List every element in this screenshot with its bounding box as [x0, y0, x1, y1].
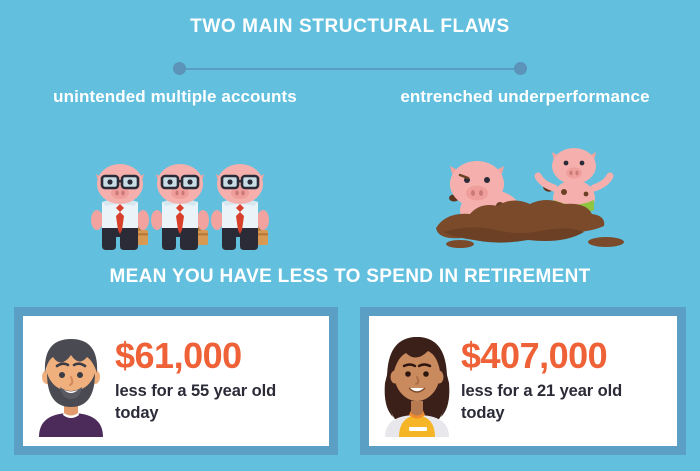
- connector-dot-right: [514, 62, 527, 75]
- flaw-label-unintended-multiple-accounts: unintended multiple accounts: [0, 86, 350, 109]
- bearded-man-avatar: [29, 325, 113, 437]
- flaw-labels: unintended multiple accounts entrenched …: [0, 86, 700, 109]
- stat-cards: $61,000 less for a 55 year old today: [0, 307, 700, 457]
- stat-card-inner: $61,000 less for a 55 year old today: [23, 316, 329, 446]
- flaw-column-right: entrenched underperformance: [350, 86, 700, 109]
- stat-amount: $407,000: [461, 338, 667, 374]
- stat-amount: $61,000: [115, 338, 319, 374]
- page-title: TWO MAIN STRUCTURAL FLAWS: [0, 16, 700, 38]
- stat-card-55-year-old[interactable]: $61,000 less for a 55 year old today: [14, 307, 338, 455]
- stat-description: less for a 21 year old today: [461, 380, 667, 424]
- stat-card-21-year-old[interactable]: $407,000 less for a 21 year old today: [360, 307, 686, 455]
- three-business-pigs-illustration: [90, 132, 290, 257]
- flaw-label-entrenched-underperformance: entrenched underperformance: [350, 86, 700, 109]
- stat-text-group: $61,000 less for a 55 year old today: [113, 338, 319, 424]
- illustration-row: [0, 132, 700, 257]
- stat-description: less for a 55 year old today: [115, 380, 319, 424]
- connector-line: [186, 68, 514, 70]
- stat-text-group: $407,000 less for a 21 year old today: [459, 338, 667, 424]
- flaw-column-left: unintended multiple accounts: [0, 86, 350, 109]
- connector-dot-left: [173, 62, 186, 75]
- connector: [170, 62, 530, 76]
- pigs-in-mud-illustration: [430, 132, 650, 257]
- woman-avatar: [375, 325, 459, 437]
- subheading: MEAN YOU HAVE LESS TO SPEND IN RETIREMEN…: [0, 266, 700, 288]
- stat-card-inner: $407,000 less for a 21 year old today: [369, 316, 677, 446]
